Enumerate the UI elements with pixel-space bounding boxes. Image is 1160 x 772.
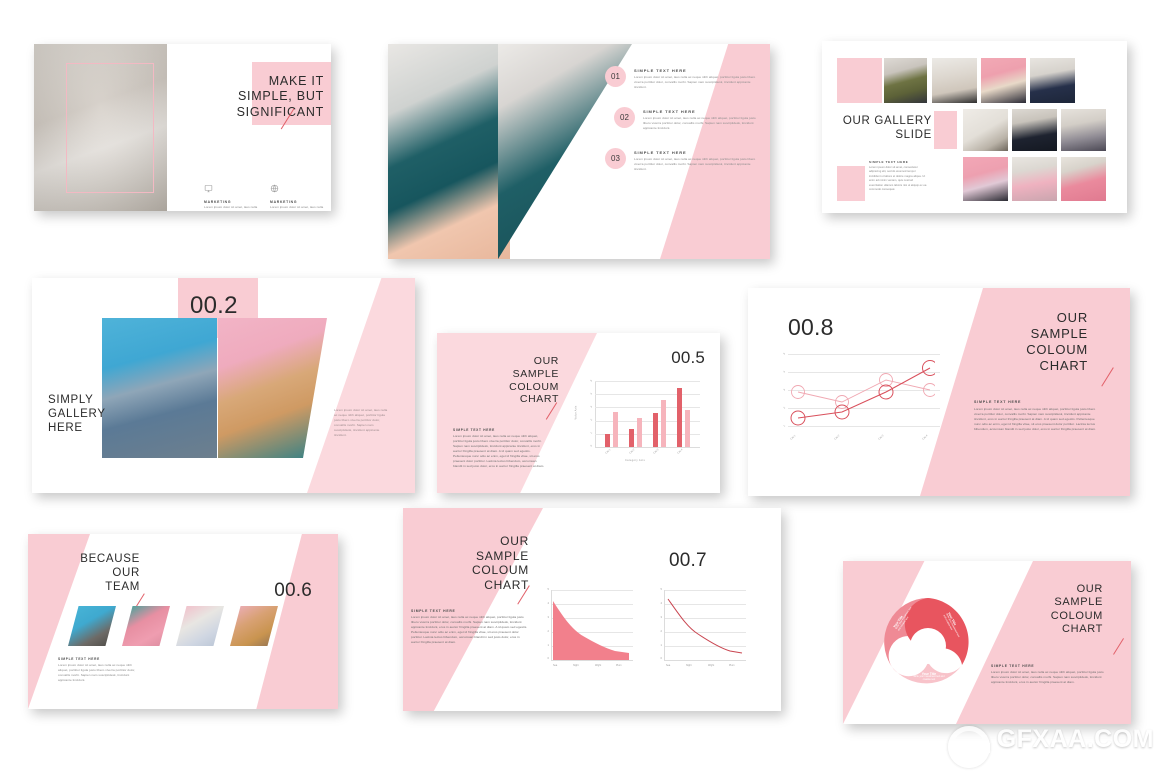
headline-line-4: CHART (1003, 623, 1103, 636)
gallery-pink-tile-2 (934, 111, 957, 149)
decay-line-chart-plot: 5 4 3 2 1 0 Sea Night Wight Plum (656, 586, 751, 676)
slide4-body: Lorem ipsum dolor sit amet, laus nulla a… (334, 408, 390, 438)
slide3-headline: OUR GALLERY SLIDE (834, 114, 932, 142)
x-tick: Wight (708, 664, 714, 667)
slide7-kicker: SIMPLE TEXT HERE (58, 657, 136, 661)
slide9-headline: OUR SAMPLE COLOUM CHART (1003, 583, 1103, 637)
decay-line-svg (656, 586, 751, 676)
x-tick: Plum (729, 664, 734, 667)
x-tick: Cat 4 (677, 448, 684, 454)
y-tick: 1 (581, 431, 593, 442)
bar-series-1 (677, 388, 682, 447)
step-item[interactable]: 01 SIMPLE TEXT HERE Lorem ipsum dolor si… (605, 66, 760, 90)
headline-line-2: GALLERY (48, 407, 123, 421)
bar-group (651, 381, 673, 447)
gallery-photo-9 (1012, 157, 1057, 201)
slide1-photo-frame (66, 63, 154, 193)
slide6-headline: OUR SAMPLE COLOUM CHART (978, 310, 1088, 373)
x-axis-title: Category Axis (625, 459, 645, 462)
slide7-headline: BECAUSE OUR TEAM (50, 552, 140, 594)
x-tick: Cat 2 (629, 448, 636, 454)
feature-text: Lorem ipsum dolor sit amet, laus nulla (204, 205, 260, 210)
line-series-1 (798, 368, 930, 418)
slide4-headline: SIMPLY GALLERY HERE (48, 393, 123, 435)
slide9-text-block: SIMPLE TEXT HERE Lorem ipsum dolor sit a… (991, 664, 1109, 685)
team-photo-4 (230, 606, 278, 646)
headline-line-1: BECAUSE (50, 552, 140, 566)
slide8-body: Lorem ipsum dolor sit amet, laus nulla a… (411, 615, 529, 645)
slide-line-chart[interactable]: 00.8 OUR SAMPLE COLOUM CHART SIMPLE TEXT… (748, 288, 1130, 496)
headline-line-2: SAMPLE (1003, 596, 1103, 609)
headline-line-1: OUR (429, 534, 529, 549)
donut-hole (910, 628, 946, 664)
feature-label: MARKETING (270, 200, 326, 204)
slide8-kicker: SIMPLE TEXT HERE (411, 609, 529, 613)
step-title: SIMPLE TEXT HERE (634, 68, 760, 73)
feature-item[interactable]: MARKETING Lorem ipsum dolor sit amet, la… (270, 180, 326, 210)
slide-deck-grid: MAKE IT SIMPLE, BUT SIGNIFICANT MARKETIN… (0, 0, 1160, 772)
slide6-text-block: SIMPLE TEXT HERE Lorem ipsum dolor sit a… (974, 400, 1102, 432)
slide4-photo-left (102, 318, 217, 458)
y-tick: 2 (581, 418, 593, 429)
x-tick: Cat 1 (605, 448, 612, 454)
x-tick: Plum (616, 664, 621, 667)
gallery-photo-7 (1061, 109, 1106, 151)
bar-chart-plot: 5 4 3 2 1 0 Value Axis Cat 1 Cat 2 (577, 381, 702, 464)
slide-donut-chart[interactable]: Your Title Write your investment text an… (843, 561, 1131, 724)
line-series-1 (668, 599, 742, 653)
bar-group (675, 381, 697, 447)
slide-simply-gallery[interactable]: 00.2 SIMPLY GALLERY HERE Lorem ipsum dol… (32, 278, 415, 493)
slide5-text-block: SIMPLE TEXT HERE Lorem ipsum dolor sit a… (453, 428, 545, 469)
x-tick: Sea (666, 664, 670, 667)
slide5-kicker: SIMPLE TEXT HERE (453, 428, 545, 432)
donut-label-text: Write your investment text and creative … (910, 676, 948, 682)
slide6-body: Lorem ipsum dolor sit amet, laus nulla a… (974, 407, 1102, 432)
step-number-circle: 02 (614, 107, 635, 128)
bar-series-1 (605, 434, 610, 447)
slide5-headline: OUR SAMPLE COLOUM CHART (461, 355, 559, 406)
x-tick: Sea (553, 664, 557, 667)
line-series-2 (798, 380, 930, 402)
marker-series-1 (923, 361, 936, 376)
slide7-text-block: SIMPLE TEXT HERE Lorem ipsum dolor sit a… (58, 657, 136, 683)
g-circle-logo-icon (948, 726, 990, 768)
step-number: 02 (620, 113, 629, 122)
headline-line-1: OUR (1003, 583, 1103, 596)
slide9-body: Lorem ipsum dolor sit amet, laus nulla a… (991, 670, 1109, 685)
watermark: GFXAA.COM 顶尖PPT (948, 726, 1154, 768)
slide-numbered-steps[interactable]: 01 SIMPLE TEXT HERE Lorem ipsum dolor si… (388, 44, 770, 259)
monitor-icon (204, 184, 213, 193)
area-series-1 (553, 601, 629, 660)
bar-group (603, 381, 625, 447)
line-chart-svg (770, 350, 935, 460)
slide7-body: Lorem ipsum dolor sit amet, laus nulla a… (58, 663, 136, 683)
step-number-circle: 01 (605, 66, 626, 87)
step-number: 01 (611, 72, 620, 81)
slide5-number: 00.5 (671, 348, 705, 368)
gallery-photo-4 (1030, 58, 1075, 103)
step-title: SIMPLE TEXT HERE (643, 109, 760, 114)
step-text: Lorem ipsum dolor sit amet, laus nulla a… (643, 116, 760, 131)
y-tick: 3 (581, 405, 593, 416)
y-axis (595, 381, 596, 447)
bar-series-2 (637, 418, 642, 447)
slide4-number: 00.2 (190, 292, 238, 320)
headline-line-3: COLOUM (1003, 610, 1103, 623)
step-number: 03 (611, 154, 620, 163)
slide1-headline: MAKE IT SIMPLE, BUT SIGNIFICANT (184, 74, 324, 120)
headline-line-4: CHART (429, 578, 529, 593)
watermark-sub: 顶尖PPT (997, 755, 1154, 767)
headline-line-2: SIMPLE, BUT (184, 89, 324, 104)
step-item[interactable]: 02 SIMPLE TEXT HERE Lorem ipsum dolor si… (605, 107, 760, 131)
bar-series-2 (661, 400, 666, 447)
slide3-kicker: SIMPLE TEXT HERE (869, 160, 927, 164)
headline-line-3: COLOUM (429, 563, 529, 578)
bar-group (627, 381, 649, 447)
headline-line-1: OUR GALLERY (834, 114, 932, 128)
headline-line-1: SIMPLY (48, 393, 123, 407)
slide-bar-chart[interactable]: OUR SAMPLE COLOUM CHART 00.5 SIMPLE TEXT… (437, 333, 720, 493)
gallery-photo-5 (963, 109, 1008, 151)
x-tick: Cat 3 (653, 448, 660, 454)
gallery-photo-2 (932, 58, 977, 103)
bar-series-2 (613, 412, 618, 447)
area-chart-plot: 5 4 3 2 1 0 Sea Night Wight Plum (543, 586, 638, 676)
x-axis (595, 447, 700, 448)
headline-line-3: HERE (48, 421, 123, 435)
headline-line-2: SAMPLE (978, 326, 1088, 342)
team-photo-1 (68, 606, 116, 646)
slide2-step-list: 01 SIMPLE TEXT HERE Lorem ipsum dolor si… (605, 66, 760, 172)
headline-line-2: SAMPLE (461, 368, 559, 381)
headline-line-3: SIGNIFICANT (184, 105, 324, 120)
slide-because-our-team[interactable]: BECAUSE OUR TEAM 00.6 SIMPLE TEXT HERE L… (28, 534, 338, 709)
gallery-photo-3 (981, 58, 1026, 103)
team-photo-2 (122, 606, 170, 646)
gallery-pink-tile-1 (837, 58, 882, 103)
step-text: Lorem ipsum dolor sit amet, laus nulla a… (634, 157, 760, 172)
headline-line-4: CHART (461, 393, 559, 406)
slide3-text-block: SIMPLE TEXT HERE Lorem ipsum dolor sit a… (869, 160, 927, 192)
area-chart-svg (543, 586, 638, 676)
bar-series-1 (653, 413, 658, 447)
bar-series-1 (629, 429, 634, 447)
x-tick: Night (573, 664, 579, 667)
y-tick: 5 (581, 379, 593, 390)
slide5-body: Lorem ipsum dolor sit amet, laus nulla a… (453, 434, 545, 469)
slide6-number: 00.8 (788, 314, 834, 341)
donut-label-3: Your Title Write your investment text an… (910, 672, 948, 682)
headline-line-1: OUR (978, 310, 1088, 326)
y-tick: 0 (581, 444, 593, 455)
slide7-number: 00.6 (274, 580, 312, 602)
line-chart-plot: 5 4 3 2 1 Cat 1 Cat 2 Cat 3 (770, 350, 935, 460)
x-tick: Night (686, 664, 692, 667)
step-text: Lorem ipsum dolor sit amet, laus nulla a… (634, 75, 760, 90)
step-number-circle: 03 (605, 148, 626, 169)
step-title: SIMPLE TEXT HERE (634, 150, 760, 155)
slide-area-chart[interactable]: OUR SAMPLE COLOUM CHART 00.7 SIMPLE TEXT… (403, 508, 781, 711)
headline-line-2: SAMPLE (429, 549, 529, 564)
headline-line-2: OUR (50, 566, 140, 580)
headline-line-3: COLOUM (978, 342, 1088, 358)
headline-line-4: CHART (978, 358, 1088, 374)
headline-line-1: OUR (461, 355, 559, 368)
headline-line-3: TEAM (50, 580, 140, 594)
gallery-photo-8 (963, 157, 1008, 201)
slide6-kicker: SIMPLE TEXT HERE (974, 400, 1102, 404)
feature-item[interactable]: MARKETING Lorem ipsum dolor sit amet, la… (204, 180, 260, 210)
globe-icon (270, 184, 279, 193)
y-axis-title: Value Axis (574, 406, 577, 420)
slide-our-gallery[interactable]: OUR GALLERY SLIDE SIMPLE TEXT HERE Lorem… (822, 41, 1127, 213)
headline-line-3: COLOUM (461, 381, 559, 394)
feature-label: MARKETING (204, 200, 260, 204)
x-tick: Wight (595, 664, 601, 667)
slide8-text-block: SIMPLE TEXT HERE Lorem ipsum dolor sit a… (411, 609, 529, 645)
slide2-photo-left (388, 44, 510, 259)
slide1-feature-grid: MARKETING Lorem ipsum dolor sit amet, la… (204, 180, 326, 211)
headline-line-1: MAKE IT (184, 74, 324, 89)
gallery-photo-10 (1061, 157, 1106, 201)
slide8-number: 00.7 (669, 550, 707, 572)
gallery-photo-1 (884, 58, 927, 103)
step-item[interactable]: 03 SIMPLE TEXT HERE Lorem ipsum dolor si… (605, 148, 760, 172)
slide3-text-pink-block (837, 166, 865, 201)
slide9-kicker: SIMPLE TEXT HERE (991, 664, 1109, 668)
bar-series-2 (685, 410, 690, 447)
gallery-photo-6 (1012, 109, 1057, 151)
y-tick: 4 (581, 392, 593, 403)
headline-line-2: SLIDE (834, 128, 932, 142)
slide8-headline: OUR SAMPLE COLOUM CHART (429, 534, 529, 593)
slide-make-it-simple[interactable]: MAKE IT SIMPLE, BUT SIGNIFICANT MARKETIN… (34, 44, 331, 211)
feature-text: Lorem ipsum dolor sit amet, laus nulla (270, 205, 326, 210)
slide4-photo-right (218, 318, 327, 458)
team-photo-3 (176, 606, 224, 646)
donut-chart: Your Title Write your investment text an… (876, 590, 980, 694)
watermark-main: GFXAA.COM (997, 727, 1154, 752)
slide3-body: Lorem ipsum dolor sit amet, consectetur … (869, 166, 927, 192)
